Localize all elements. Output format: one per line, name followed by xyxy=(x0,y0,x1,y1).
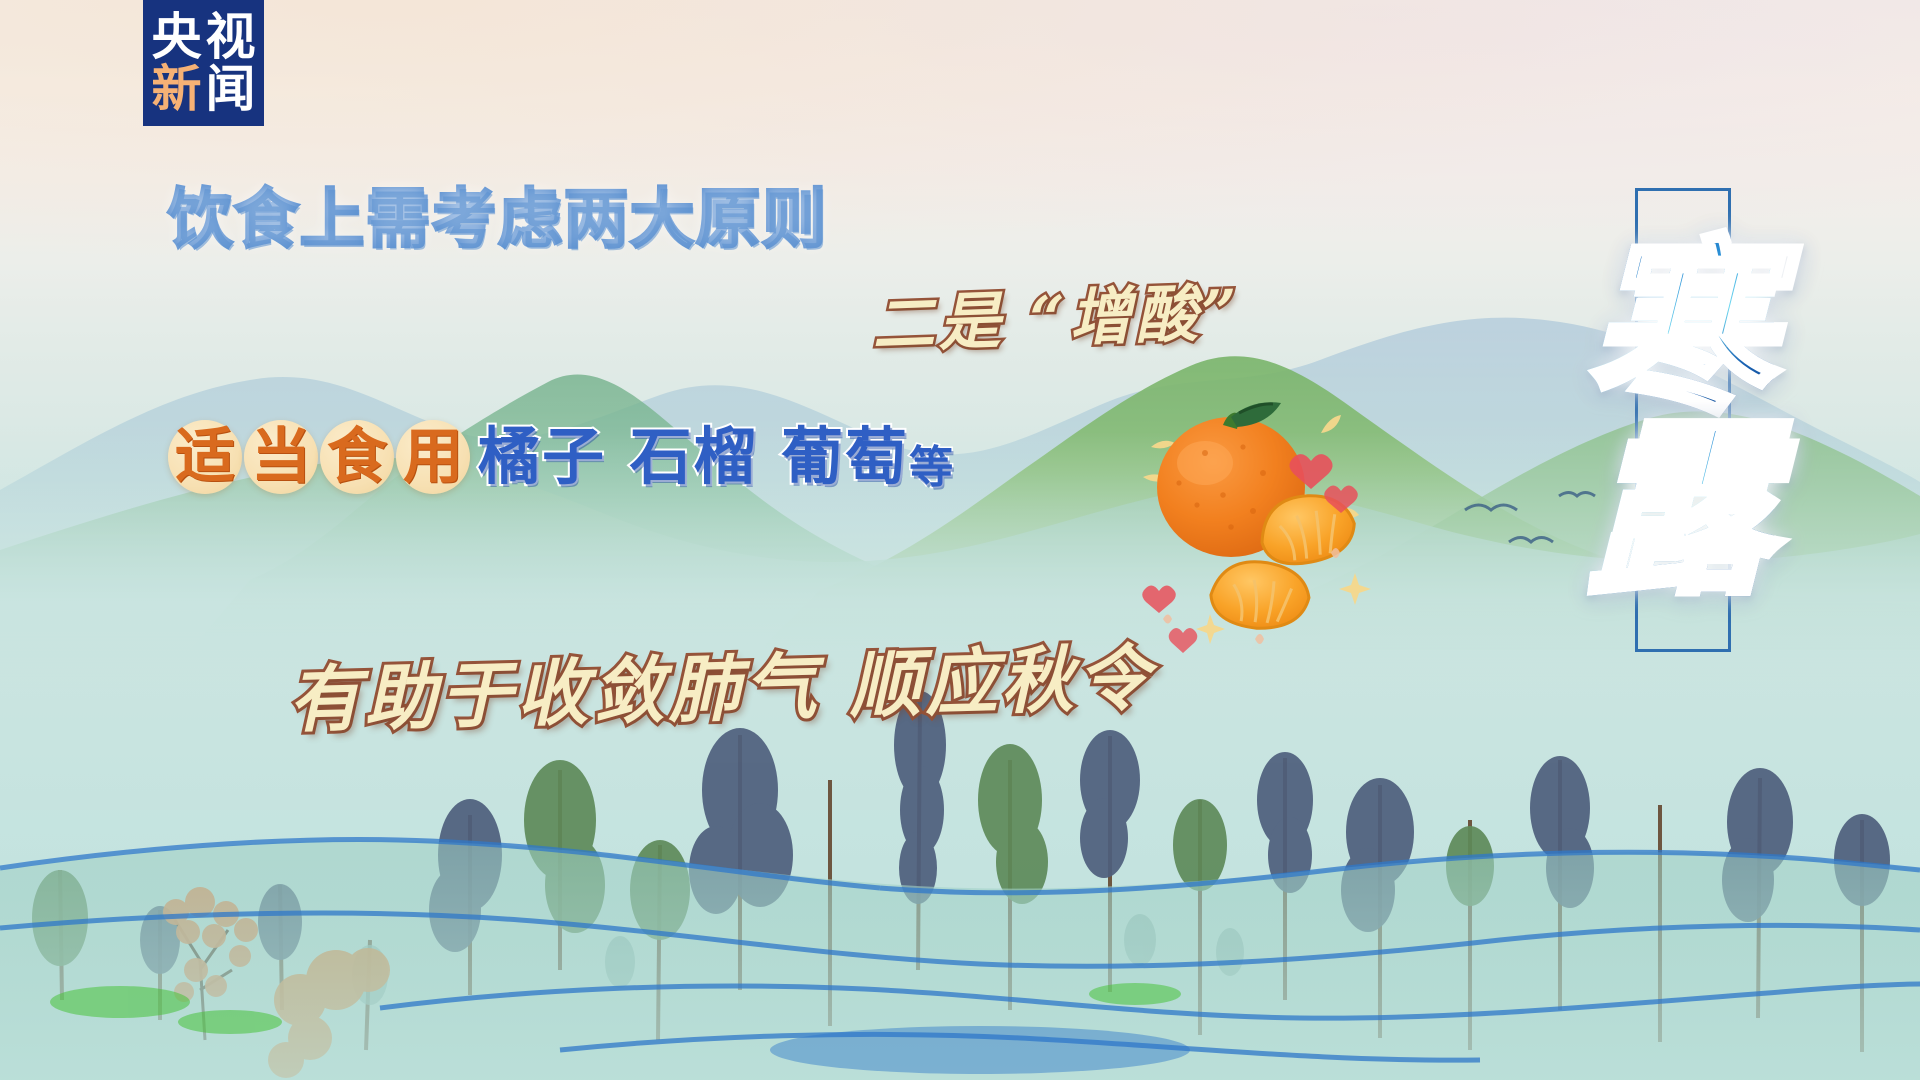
advice-prefix-chips: 适 当 食 用 xyxy=(168,420,472,494)
advice-char-2: 食 xyxy=(327,427,387,487)
logo-char-shi: 视 xyxy=(204,12,258,62)
broadcast-graphic: 央 视 新 闻 饮食上需考虑两大原则 二是 “增酸” xyxy=(0,0,1920,1080)
advice-char-3: 用 xyxy=(403,427,463,487)
advice-chip-yong: 用 xyxy=(396,420,470,494)
advice-char-0: 适 xyxy=(175,427,235,487)
advice-char-1: 当 xyxy=(251,427,311,487)
fruit-list: 橘子 石榴 葡萄 xyxy=(478,426,909,488)
solar-term-char-han: 寒 xyxy=(1586,243,1774,416)
advice-chip-dang: 当 xyxy=(244,420,318,494)
headline-text: 饮食上需考虑两大原则 xyxy=(168,183,828,257)
fruit-list-suffix: 等 xyxy=(909,446,953,490)
logo-line-2: 新 闻 xyxy=(150,64,258,114)
river-meadow xyxy=(0,750,1920,1080)
logo-char-wen: 闻 xyxy=(204,64,258,114)
headline-caption: 饮食上需考虑两大原则 xyxy=(168,168,828,260)
logo-char-yang: 央 xyxy=(150,12,204,62)
logo-char-xin: 新 xyxy=(150,64,204,114)
solar-term-title: 寒 露 xyxy=(1540,170,1820,670)
cctv-news-logo: 央 视 新 闻 xyxy=(143,0,264,126)
tangerine-illustration xyxy=(1135,395,1405,665)
advice-caption: 适 当 食 用 橘子 石榴 葡萄 等 xyxy=(168,420,953,494)
advice-chip-shi: 适 xyxy=(168,420,242,494)
solar-term-char-lu: 露 xyxy=(1586,424,1774,597)
advice-chip-shi2: 食 xyxy=(320,420,394,494)
logo-line-1: 央 视 xyxy=(150,12,258,62)
principle-caption: 二是 “增酸” xyxy=(871,262,1243,365)
